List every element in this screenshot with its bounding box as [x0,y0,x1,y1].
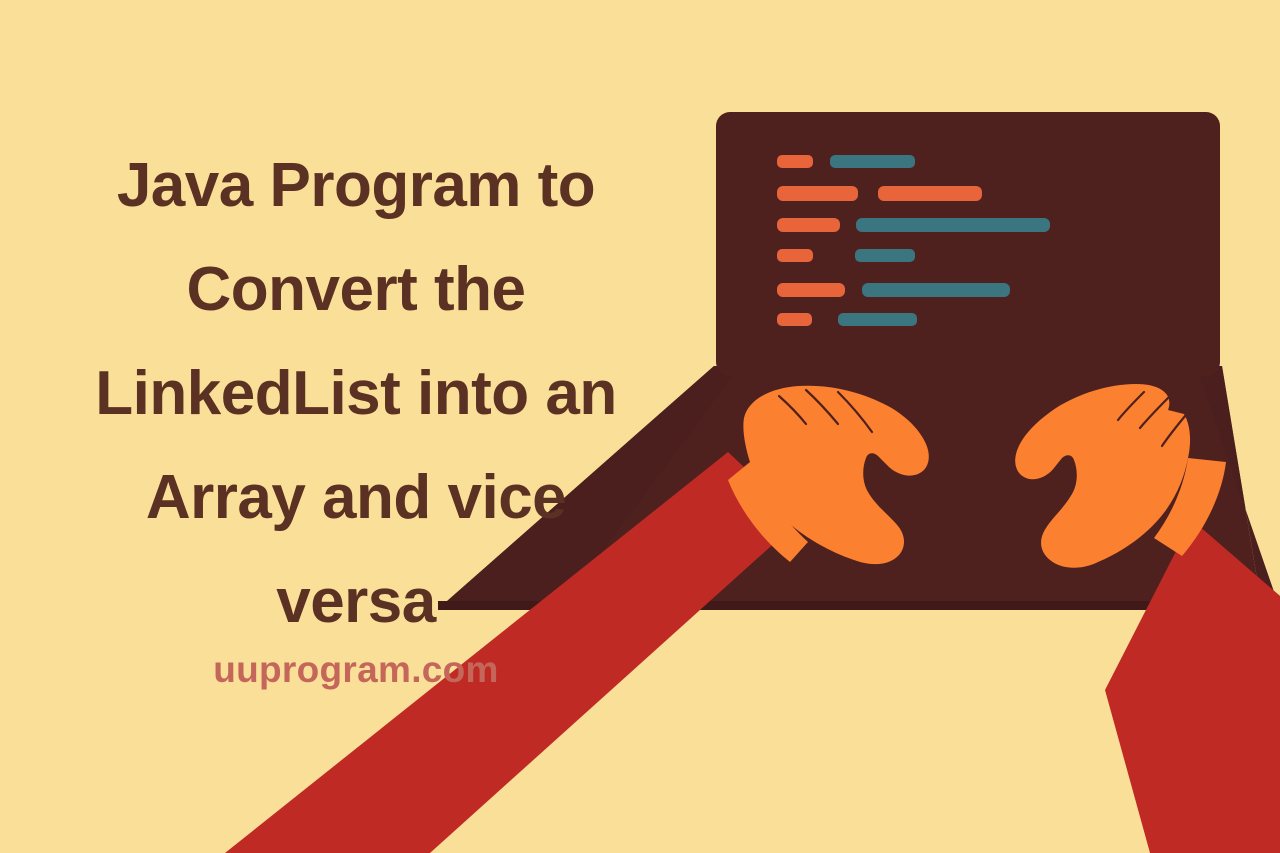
code-token-orange [777,155,813,168]
code-token-orange [777,249,813,262]
code-token-orange [777,218,840,232]
code-token-orange [777,186,858,201]
code-token-orange [878,186,982,201]
code-token-teal [862,283,1010,297]
code-token-teal [830,155,915,168]
laptop-typing-illustration [0,0,1280,853]
code-token-orange [777,283,845,297]
code-token-teal [855,249,915,262]
code-token-teal [838,313,917,326]
banner-image: Java Program to Convert the LinkedList i… [0,0,1280,853]
laptop-screen [716,112,1220,376]
code-token-teal [856,218,1050,232]
site-url-label: uuprogram.com [0,648,712,692]
code-token-orange [777,313,812,326]
